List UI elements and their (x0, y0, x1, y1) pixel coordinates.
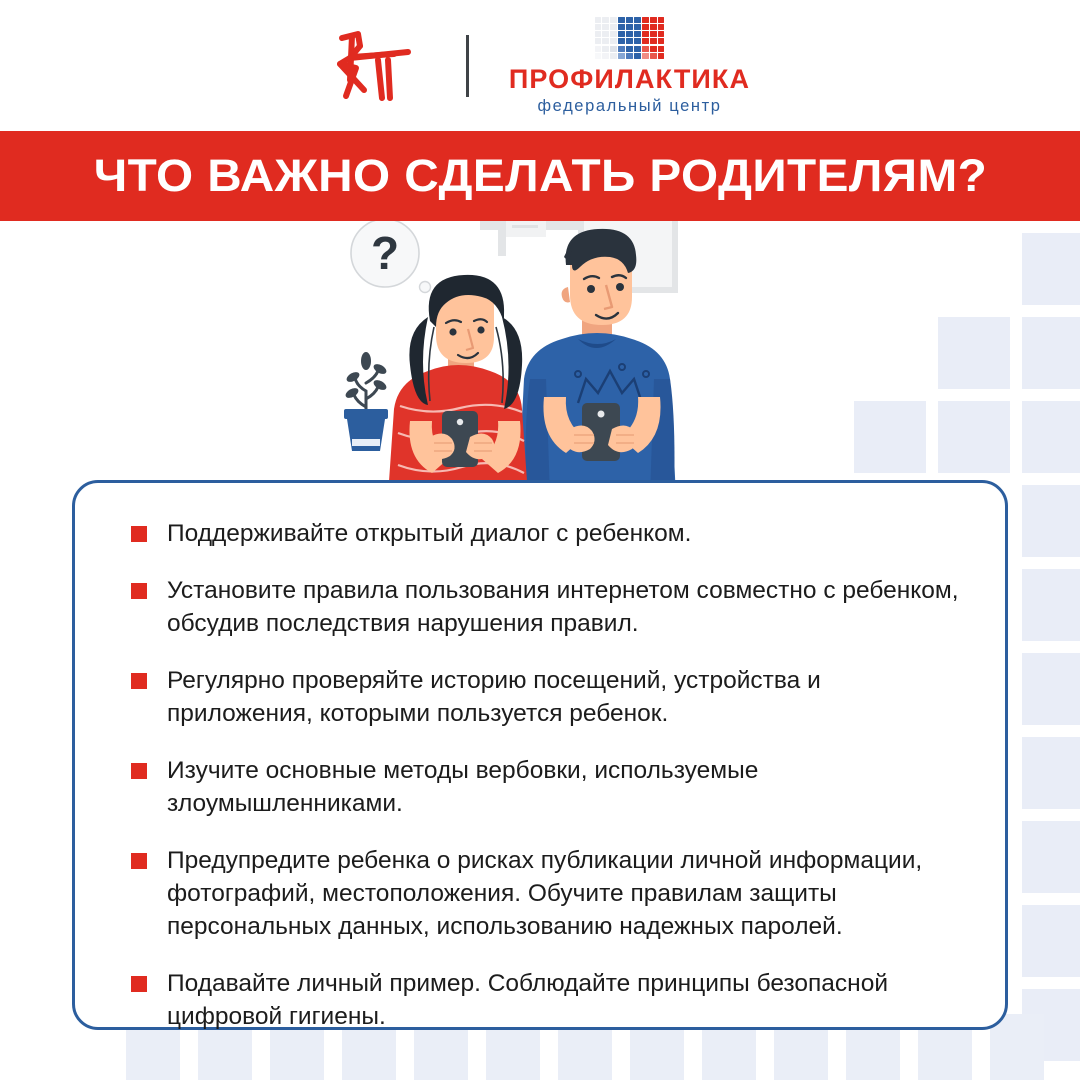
list-item: Поддерживайте открытый диалог с ребенком… (119, 517, 961, 550)
list-item: Регулярно проверяйте историю посещений, … (119, 664, 961, 730)
grid-logo-icon (595, 17, 665, 59)
bullet-marker-icon (131, 976, 147, 992)
list-item: Предупредите ребенка о рисках публикации… (119, 844, 961, 943)
bullet-marker-icon (131, 583, 147, 599)
poster-root: ? (0, 0, 1080, 1080)
recommendation-list: Поддерживайте открытый диалог с ребенком… (119, 517, 961, 1033)
brand-name: ПРОФИЛАКТИКА (509, 66, 750, 93)
title-banner: ЧТО ВАЖНО СДЕЛАТЬ РОДИТЕЛЯМ? (0, 131, 1080, 221)
list-item: Установите правила пользования интернето… (119, 574, 961, 640)
list-item-text: Изучите основные методы вербовки, исполь… (167, 757, 758, 817)
bullet-marker-icon (131, 526, 147, 542)
page-title: ЧТО ВАЖНО СДЕЛАТЬ РОДИТЕЛЯМ? (93, 150, 986, 202)
list-item: Подавайте личный пример. Соблюдайте прин… (119, 967, 961, 1033)
svg-text:?: ? (371, 227, 399, 279)
bullet-marker-icon (131, 853, 147, 869)
header: ПРОФИЛАКТИКА федеральный центр (0, 0, 1080, 131)
illustration-family-with-phones: ? (330, 221, 750, 496)
brand-block: ПРОФИЛАКТИКА федеральный центр (509, 17, 750, 115)
list-item-text: Предупредите ребенка о рисках публикации… (167, 847, 922, 940)
list-item-text: Подавайте личный пример. Соблюдайте прин… (167, 970, 888, 1030)
brand-subtitle: федеральный центр (537, 98, 721, 115)
list-item: Изучите основные методы вербовки, исполь… (119, 754, 961, 820)
recommendations-card: Поддерживайте открытый диалог с ребенком… (72, 480, 1008, 1030)
list-item-text: Поддерживайте открытый диалог с ребенком… (167, 520, 691, 547)
bullet-marker-icon (131, 673, 147, 689)
logo-divider (466, 35, 469, 97)
chair-logo-icon (330, 24, 426, 108)
list-item-text: Установите правила пользования интернето… (167, 577, 959, 637)
list-item-text: Регулярно проверяйте историю посещений, … (167, 667, 821, 727)
bullet-marker-icon (131, 763, 147, 779)
